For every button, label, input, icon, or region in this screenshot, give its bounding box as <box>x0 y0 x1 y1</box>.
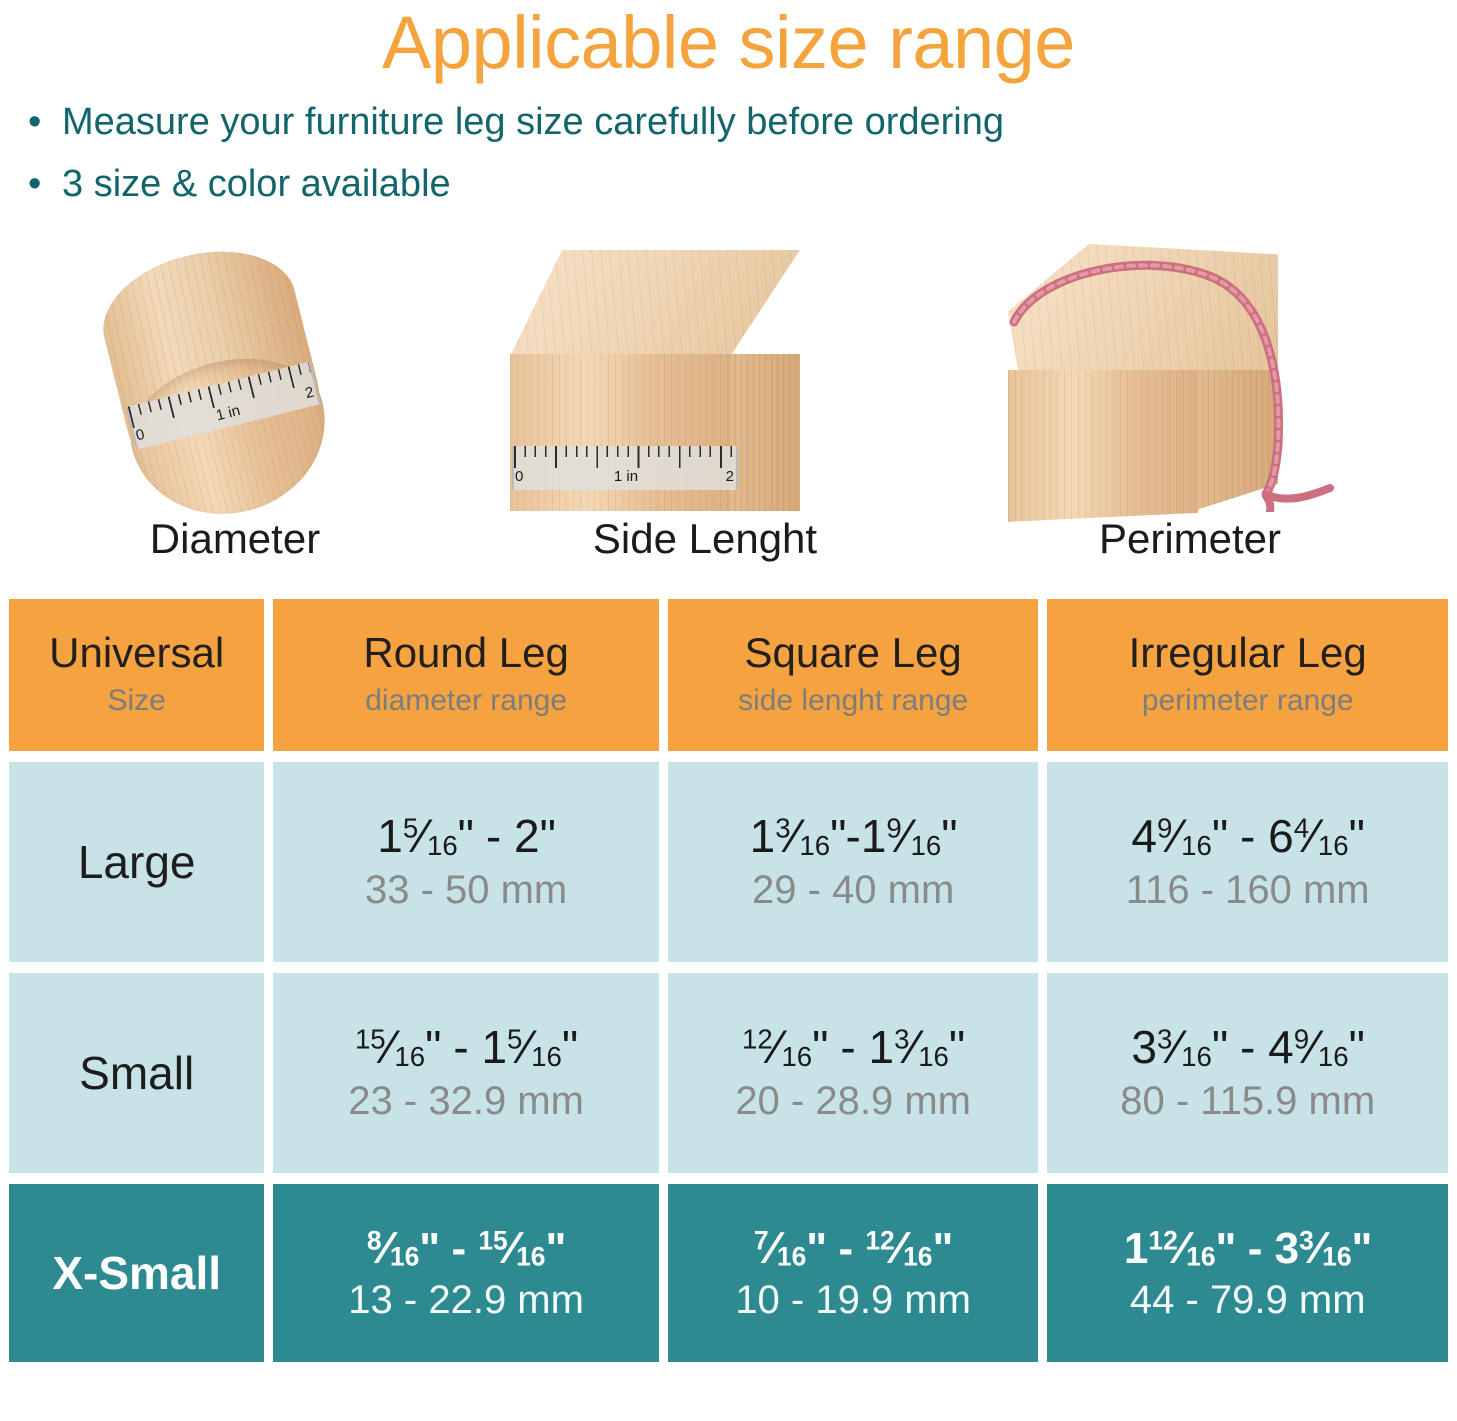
header-sub-text: perimeter range <box>1142 683 1354 719</box>
metric-range: 116 - 160 mm <box>1126 867 1370 913</box>
metric-range: 23 - 32.9 mm <box>348 1078 584 1124</box>
size-cell: Small <box>9 973 264 1173</box>
square-cell: 13⁄16"-19⁄16" 29 - 40 mm <box>668 762 1039 962</box>
table-header-cell-universal-size: Universal Size <box>9 599 264 751</box>
header-main-text: Irregular Leg <box>1129 631 1367 676</box>
metric-range: 44 - 79.9 mm <box>1130 1277 1366 1323</box>
table-row: Small 15⁄16" - 15⁄16" 23 - 32.9 mm 12⁄16… <box>9 973 1448 1173</box>
illustration-perimeter: Perimeter <box>940 238 1440 563</box>
table-header-cell-square-leg: Square Leg side lenght range <box>668 599 1039 751</box>
imperial-range: 112⁄16" - 33⁄16" <box>1124 1223 1372 1273</box>
size-label: X-Small <box>52 1246 221 1300</box>
bullet-text: Measure your furniture leg size carefull… <box>62 101 1004 143</box>
header-main-text: Universal <box>49 631 224 676</box>
header-sub-text: side lenght range <box>738 683 968 719</box>
table-header-cell-round-leg: Round Leg diameter range <box>273 599 659 751</box>
ruler-mark-2: 2 <box>726 468 734 485</box>
header-sub-text: diameter range <box>365 683 567 719</box>
intro-bullet-list: • Measure your furniture leg size carefu… <box>0 98 1457 209</box>
illustration-caption: Diameter <box>0 515 470 563</box>
imperial-range: 7⁄16" - 12⁄16" <box>754 1223 953 1273</box>
square-top-face <box>510 250 800 356</box>
table-header-row: Universal Size Round Leg diameter range … <box>9 599 1448 751</box>
round-cell: 8⁄16" - 15⁄16" 13 - 22.9 mm <box>273 1184 659 1362</box>
irregular-cell: 112⁄16" - 33⁄16" 44 - 79.9 mm <box>1047 1184 1448 1362</box>
irregular-cell: 49⁄16" - 64⁄16" 116 - 160 mm <box>1047 762 1448 962</box>
size-cell: X-Small <box>9 1184 264 1362</box>
measuring-string-icon <box>1000 244 1400 512</box>
irregular-leg-icon <box>940 238 1440 513</box>
imperial-range: 15⁄16" - 2" <box>377 811 555 863</box>
round-cell: 15⁄16" - 15⁄16" 23 - 32.9 mm <box>273 973 659 1173</box>
size-cell: Large <box>9 762 264 962</box>
table-row: Large 15⁄16" - 2" 33 - 50 mm 13⁄16"-19⁄1… <box>9 762 1448 962</box>
applicable-size-table: Universal Size Round Leg diameter range … <box>0 588 1457 1373</box>
illustration-side-length: 0 1 in 2 Side Lenght <box>470 238 940 563</box>
metric-range: 13 - 22.9 mm <box>348 1277 584 1323</box>
size-label: Small <box>79 1046 194 1100</box>
metric-range: 33 - 50 mm <box>365 867 567 913</box>
ruler-mark-0: 0 <box>515 468 523 485</box>
list-item: • 3 size & color available <box>0 160 1457 209</box>
bullet-text: 3 size & color available <box>62 163 451 205</box>
list-item: • Measure your furniture leg size carefu… <box>0 98 1457 147</box>
metric-range: 20 - 28.9 mm <box>735 1078 971 1124</box>
imperial-range: 15⁄16" - 15⁄16" <box>355 1022 577 1074</box>
page-title: Applicable size range <box>0 0 1457 82</box>
metric-range: 10 - 19.9 mm <box>735 1277 971 1323</box>
square-cell: 12⁄16" - 13⁄16" 20 - 28.9 mm <box>668 973 1039 1173</box>
ruler-mark-1in: 1 in <box>614 468 638 485</box>
illustration-caption: Side Lenght <box>470 515 940 563</box>
header-main-text: Square Leg <box>745 631 962 676</box>
illustration-caption: Perimeter <box>940 515 1440 563</box>
metric-range: 80 - 115.9 mm <box>1120 1078 1375 1124</box>
table-header-cell-irregular-leg: Irregular Leg perimeter range <box>1047 599 1448 751</box>
ruler-mark-2: 2 <box>304 384 316 403</box>
header-main-text: Round Leg <box>363 631 569 676</box>
bullet-dot-icon: • <box>28 98 41 147</box>
bullet-dot-icon: • <box>28 160 41 209</box>
table-row: X-Small 8⁄16" - 15⁄16" 13 - 22.9 mm 7⁄16… <box>9 1184 1448 1362</box>
square-right-face <box>729 354 800 511</box>
size-label: Large <box>78 835 196 889</box>
square-cell: 7⁄16" - 12⁄16" 10 - 19.9 mm <box>668 1184 1039 1362</box>
ruler-side-length: 0 1 in 2 <box>512 446 738 490</box>
imperial-range: 49⁄16" - 64⁄16" <box>1131 811 1364 863</box>
table-body: Large 15⁄16" - 2" 33 - 50 mm 13⁄16"-19⁄1… <box>9 762 1448 1362</box>
imperial-range: 8⁄16" - 15⁄16" <box>367 1223 566 1273</box>
imperial-range: 13⁄16"-19⁄16" <box>750 811 957 863</box>
imperial-range: 33⁄16" - 49⁄16" <box>1131 1022 1364 1074</box>
metric-range: 29 - 40 mm <box>752 867 954 913</box>
round-cell: 15⁄16" - 2" 33 - 50 mm <box>273 762 659 962</box>
round-leg-icon: 0 1 in 2 <box>0 238 470 513</box>
ruler-mark-0: 0 <box>134 426 146 445</box>
imperial-range: 12⁄16" - 13⁄16" <box>742 1022 964 1074</box>
square-leg-icon: 0 1 in 2 <box>470 238 940 513</box>
illustration-row: 0 1 in 2 Diameter 0 1 in <box>0 223 1457 563</box>
illustration-diameter: 0 1 in 2 Diameter <box>0 238 470 563</box>
header-sub-text: Size <box>108 683 166 719</box>
irregular-cell: 33⁄16" - 49⁄16" 80 - 115.9 mm <box>1047 973 1448 1173</box>
